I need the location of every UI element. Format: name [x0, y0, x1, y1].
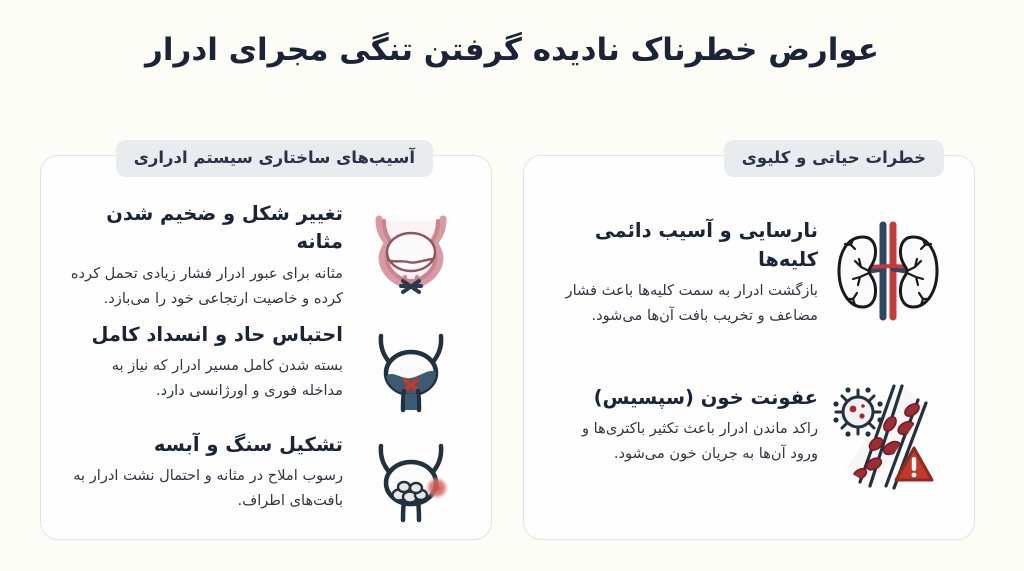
list-item-title: تشکیل سنگ و آبسه [67, 431, 343, 459]
list-item-title: نارسایی و آسیب دائمی کلیه‌ها [550, 217, 818, 274]
list-item-body: رسوب املاح در مثانه و احتمال نشت ادرار ب… [67, 463, 343, 513]
card-badge-structural: آسیب‌های ساختاری سیستم ادراری [116, 140, 433, 177]
card-structural-damage: آسیب‌های ساختاری سیستم ادراری [40, 155, 492, 540]
card-vital-risks: خطرات حیاتی و کلیوی [523, 155, 975, 540]
columns-container: آسیب‌های ساختاری سیستم ادراری [40, 155, 975, 540]
item-list-vital: نارسایی و آسیب دائمی کلیه‌ها بازگشت ادرا… [550, 190, 948, 519]
item-list-structural: تغییر شکل و ضخیم شدن مثانه مثانه برای عب… [67, 190, 465, 519]
list-item-text: تغییر شکل و ضخیم شدن مثانه مثانه برای عب… [67, 194, 343, 311]
bladder-retention-icon [357, 315, 465, 421]
list-item: تشکیل سنگ و آبسه رسوب املاح در مثانه و ا… [67, 425, 465, 531]
list-item: نارسایی و آسیب دائمی کلیه‌ها بازگشت ادرا… [550, 211, 948, 331]
list-item-title: احتباس حاد و انسداد کامل [67, 321, 343, 349]
list-item-text: تشکیل سنگ و آبسه رسوب املاح در مثانه و ا… [67, 425, 343, 513]
list-item-title: عفونت خون (سپسیس) [550, 384, 818, 412]
list-item: تغییر شکل و ضخیم شدن مثانه مثانه برای عب… [67, 194, 465, 311]
list-item-body: راکد ماندن ادرار باعث تکثیر باکتری‌ها و … [550, 416, 818, 466]
list-item: احتباس حاد و انسداد کامل بسته شدن کامل م… [67, 315, 465, 421]
list-item-text: عفونت خون (سپسیس) راکد ماندن ادرار باعث … [550, 378, 818, 466]
kidneys-icon [828, 211, 948, 331]
page-title: عوارض خطرناک نادیده گرفتن تنگی مجرای ادر… [0, 28, 1024, 73]
list-item: عفونت خون (سپسیس) راکد ماندن ادرار باعث … [550, 378, 948, 498]
sepsis-bloodvessel-icon [828, 378, 948, 498]
list-item-body: بازگشت ادرار به سمت کلیه‌ها باعث فشار مض… [550, 278, 818, 328]
list-item-text: احتباس حاد و انسداد کامل بسته شدن کامل م… [67, 315, 343, 403]
card-badge-vital: خطرات حیاتی و کلیوی [724, 140, 944, 177]
list-item-body: بسته شدن کامل مسیر ادرار که نیاز به مداخ… [67, 353, 343, 403]
list-item-title: تغییر شکل و ضخیم شدن مثانه [67, 200, 343, 257]
bladder-stones-icon [357, 425, 465, 531]
list-item-body: مثانه برای عبور ادرار فشار زیادی تحمل کر… [67, 261, 343, 311]
bladder-thickened-icon [357, 194, 465, 300]
infographic-page: عوارض خطرناک نادیده گرفتن تنگی مجرای ادر… [0, 0, 1024, 571]
list-item-text: نارسایی و آسیب دائمی کلیه‌ها بازگشت ادرا… [550, 211, 818, 328]
